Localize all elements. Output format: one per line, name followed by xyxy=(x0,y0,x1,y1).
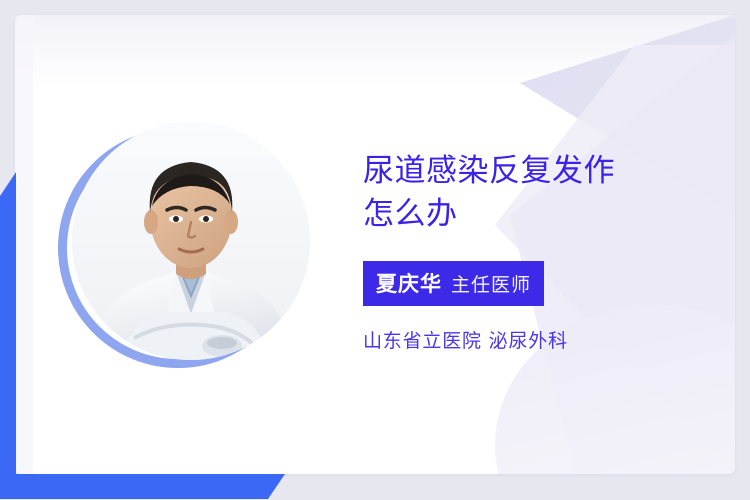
page-title: 尿道感染反复发作 怎么办 xyxy=(363,150,723,236)
doctor-affiliation: 山东省立医院 泌尿外科 xyxy=(363,328,723,354)
doctor-badge: 夏庆华主任医师 xyxy=(363,261,544,306)
text-column: 尿道感染反复发作 怎么办 夏庆华主任医师 山东省立医院 泌尿外科 xyxy=(363,150,723,354)
doctor-rank: 主任医师 xyxy=(451,274,531,296)
avatar xyxy=(58,122,316,380)
doctor-name: 夏庆华 xyxy=(376,272,442,296)
content-card: 尿道感染反复发作 怎么办 夏庆华主任医师 山东省立医院 泌尿外科 xyxy=(15,15,735,474)
promo-card-stage: 尿道感染反复发作 怎么办 夏庆华主任医师 山东省立医院 泌尿外科 xyxy=(0,0,750,500)
doctor-avatar-icon xyxy=(72,122,310,360)
